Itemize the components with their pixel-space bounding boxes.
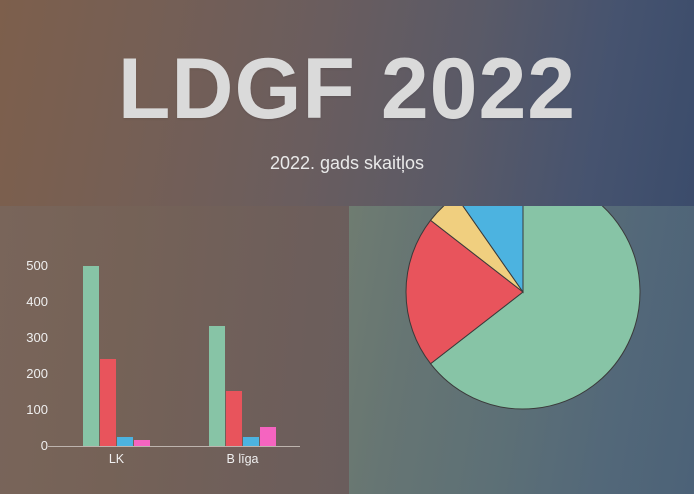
bar-chart-panel: 0100200300400500 LKB līga xyxy=(0,206,349,494)
bar-chart-bar xyxy=(117,437,133,446)
bar-chart-x-axis-line xyxy=(48,446,300,447)
bar-chart: 0100200300400500 LKB līga xyxy=(0,206,349,494)
bar-chart-bar xyxy=(209,326,225,446)
bar-chart-category-label: B līga xyxy=(198,452,288,467)
page-subtitle: 2022. gads skaitļos xyxy=(0,153,694,175)
bar-chart-bar xyxy=(134,440,150,446)
bar-chart-bar xyxy=(226,391,242,446)
bar-chart-plot-area xyxy=(48,266,300,446)
bar-chart-bar xyxy=(243,437,259,446)
bar-chart-bar xyxy=(100,359,116,446)
pie-chart-svg xyxy=(403,206,643,412)
bar-chart-y-tick-label: 200 xyxy=(14,367,48,380)
bar-chart-y-tick-label: 400 xyxy=(14,295,48,308)
bar-chart-y-tick-label: 500 xyxy=(14,259,48,272)
pie-chart xyxy=(349,206,694,494)
bar-chart-y-tick-label: 0 xyxy=(14,439,48,452)
page-header: LDGF 2022 2022. gads skaitļos xyxy=(0,0,694,206)
bar-chart-bar xyxy=(260,427,276,446)
pie-chart-panel xyxy=(349,206,694,494)
bar-chart-bar xyxy=(83,266,99,446)
page-title: LDGF 2022 xyxy=(0,46,694,132)
dashboard-root: LDGF 2022 2022. gads skaitļos 0100200300… xyxy=(0,0,694,494)
bar-chart-y-tick-label: 100 xyxy=(14,403,48,416)
bar-chart-category-label: LK xyxy=(72,452,162,467)
bar-chart-y-axis: 0100200300400500 xyxy=(10,206,48,494)
bar-chart-y-tick-label: 300 xyxy=(14,331,48,344)
